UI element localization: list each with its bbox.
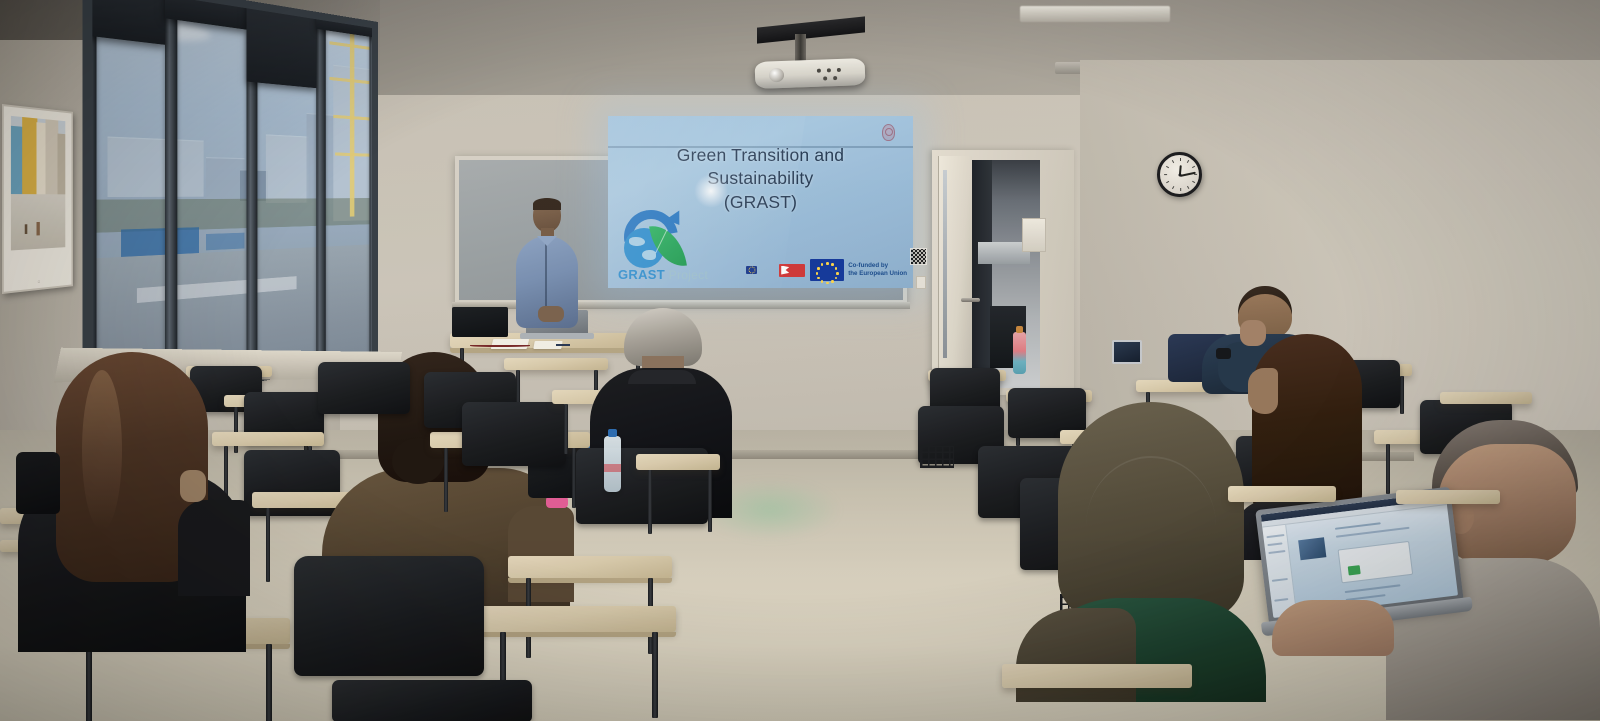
projector-hotspot [694,174,728,208]
picture-photo [11,116,65,251]
chair[interactable] [332,680,532,721]
wall-clock [1157,152,1202,197]
attendee-arm [178,500,250,596]
presenter-hair [533,198,561,210]
presenter-cable [470,344,530,347]
wire-basket [920,446,954,468]
door-vision-panel [943,170,947,358]
presenter [510,198,584,338]
pink-water-bottle [1013,332,1026,374]
presenter-pen [556,344,570,346]
window-blind[interactable] [247,0,317,88]
classroom-scene: ◻︎ [0,0,1600,721]
university-crest-icon [882,124,895,141]
chair[interactable] [294,556,484,676]
window-mullion [316,12,326,372]
eu-caption-line-2: the European Union [848,270,907,278]
eu-funding-badge: Co-funded by the European Union [810,259,907,281]
attendee-collar [628,370,696,384]
chair[interactable] [462,402,566,466]
page-green-button[interactable] [1348,565,1361,575]
hijab-fold [1086,456,1216,596]
desk-monitor-back [452,307,508,337]
eu-funding-caption: Co-funded by the European Union [848,262,907,278]
student-desk [1440,392,1532,404]
attendee-arm [508,506,574,602]
window-mullion [369,21,378,364]
chair[interactable] [318,362,410,414]
page-form-card[interactable] [1338,541,1414,584]
student-desk [480,606,676,632]
light-switch[interactable] [916,276,926,289]
page-image [1298,537,1326,560]
attendee-hand [180,470,206,502]
clock-minute-hand [1179,171,1195,176]
door[interactable] [938,156,972,390]
picture-caption: ◻︎ [38,279,40,283]
door-handle[interactable] [961,298,980,302]
student-desk [1228,486,1336,502]
student-desk [1396,490,1500,504]
ceiling-projector [755,58,866,89]
black-bag [16,452,60,514]
attendee-hair-highlight [82,370,122,530]
presenter-hands [538,306,564,322]
clock-hub [1178,173,1181,176]
wrist-watch [1216,348,1231,359]
student-desk [636,454,720,470]
student-desk [1002,664,1192,688]
projection-screen: Green Transition and Sustainability (GRA… [608,116,913,288]
projector-lens-icon [769,68,784,83]
ceiling-light-panel [1020,6,1170,22]
wall-notice-plate [1022,218,1046,252]
corridor-view [968,160,1040,388]
student-desk [508,556,672,578]
eu-caption-line-1: Co-funded by [848,262,907,270]
eu-flag-icon [810,259,844,281]
attendee-hijab [1016,402,1266,702]
tablet[interactable] [1112,340,1142,364]
framed-picture: ◻︎ [2,104,73,294]
construction-crane [350,32,355,217]
qr-code-icon [910,248,927,265]
window-mullion [165,0,177,397]
water-bottle [604,436,621,492]
laptop-user-hand [1272,600,1394,656]
